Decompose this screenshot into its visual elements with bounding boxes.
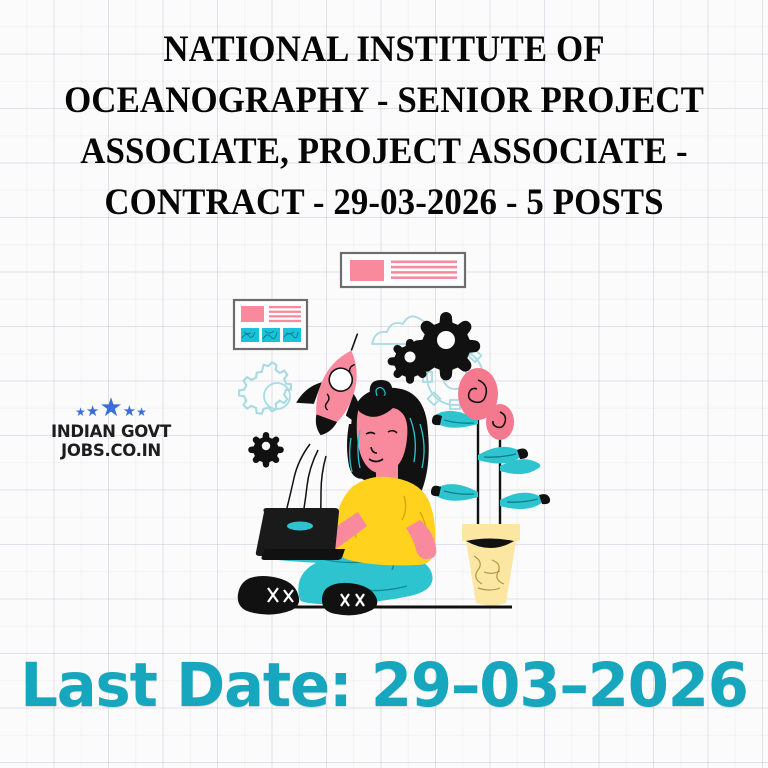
laptop [256,508,345,560]
star-icon-4: ★ [123,403,136,420]
star-icon-2: ★ [86,403,99,420]
document-card-left [234,300,307,349]
sneaker-left [238,576,299,615]
card-thumbnails [241,328,301,342]
watermark-site-name: INDIAN GOVT JOBS.CO.IN [6,422,216,460]
last-date-banner: Last Date: 29–03–2026 [12,650,757,721]
star-icon-5: ★ [136,405,147,419]
gear-black-tiny [248,432,284,468]
star-icon-1: ★ [75,405,86,419]
gear-outline-cyan-large [239,362,291,413]
job-notification-poster: NATIONAL INSTITUTE OF OCEANOGRAPHY - SEN… [0,0,768,768]
plant-flowers [458,368,514,440]
flower-pot [462,524,520,606]
site-watermark: ★★★★★ INDIAN GOVT JOBS.CO.IN [6,394,216,460]
star-icon-3: ★ [99,392,122,422]
stars-icon: ★★★★★ [6,394,216,420]
document-card-top [341,253,465,287]
